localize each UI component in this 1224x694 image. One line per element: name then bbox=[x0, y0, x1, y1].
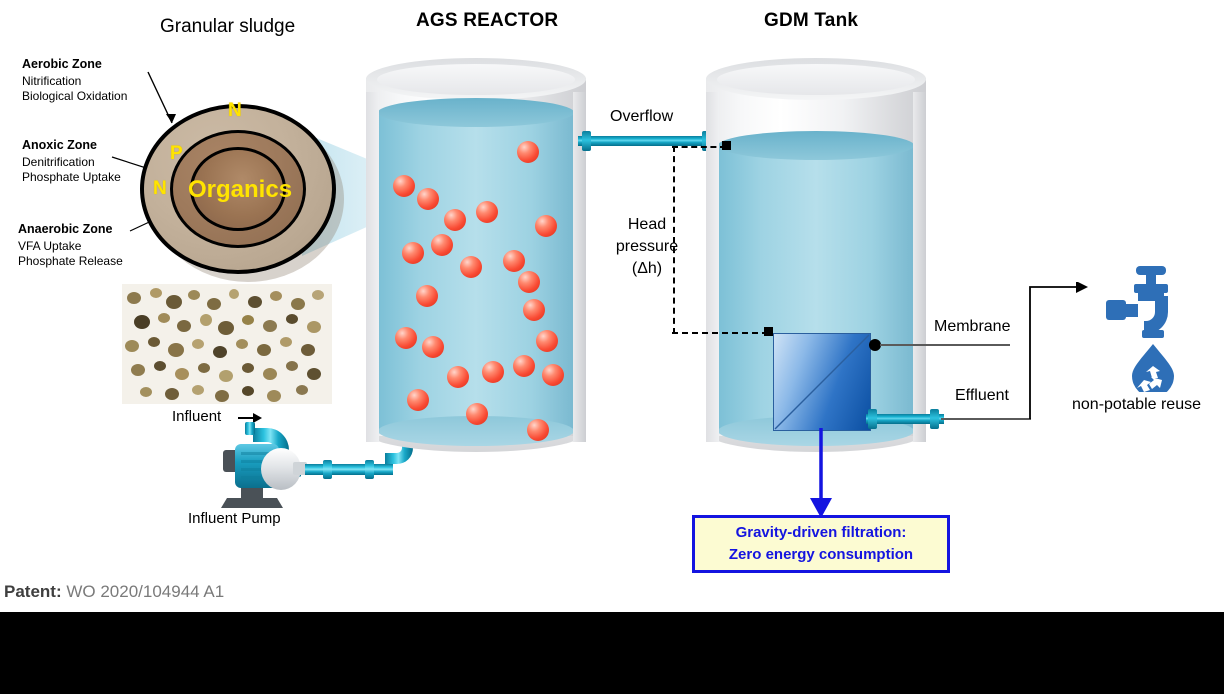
ags-reactor-tank bbox=[366, 50, 586, 450]
callout-box: Gravity-driven filtration: Zero energy c… bbox=[692, 515, 950, 573]
label-non-potable-reuse: non-potable reuse bbox=[1072, 396, 1201, 414]
effluent-pipe-flange-left bbox=[868, 409, 877, 429]
patent-label: Patent: bbox=[4, 582, 62, 601]
ags-water bbox=[378, 112, 574, 432]
label-membrane: Membrane bbox=[931, 318, 1013, 336]
title-ags-reactor: AGS REACTOR bbox=[416, 10, 558, 32]
membrane-leader-line bbox=[880, 344, 1010, 346]
membrane-diagonal-line bbox=[773, 333, 871, 431]
effluent-pipe-flange-right bbox=[930, 409, 939, 429]
patent-value: WO 2020/104944 A1 bbox=[66, 582, 224, 601]
label-head-pressure-line1: Head bbox=[617, 216, 677, 234]
granule-label-mid-n: N bbox=[153, 178, 167, 200]
callout-line-2: Zero energy consumption bbox=[729, 544, 913, 566]
faucet-reuse-icon bbox=[1098, 262, 1208, 392]
screenshot-root: Granular sludge AGS REACTOR GDM Tank Aer… bbox=[0, 0, 1224, 694]
overflow-pipe-flange-left bbox=[582, 131, 591, 151]
head-pressure-dash-bottom bbox=[672, 332, 768, 334]
granule-label-outer-n: N bbox=[228, 100, 242, 122]
callout-line-1: Gravity-driven filtration: bbox=[736, 522, 907, 544]
label-head-pressure-line2: pressure bbox=[602, 238, 692, 256]
label-overflow: Overflow bbox=[610, 108, 673, 126]
label-influent-pump: Influent Pump bbox=[188, 510, 281, 527]
granule-label-mid-p: P bbox=[170, 143, 183, 165]
head-pressure-dash-top bbox=[672, 146, 726, 148]
patent-footer: Patent: WO 2020/104944 A1 bbox=[4, 582, 224, 602]
label-effluent: Effluent bbox=[952, 387, 1012, 405]
label-head-pressure-line3: (Δh) bbox=[617, 260, 677, 278]
title-gdm-tank: GDM Tank bbox=[764, 10, 858, 32]
granule-label-core-organics: Organics bbox=[188, 176, 292, 204]
granular-sludge-micrograph bbox=[122, 284, 332, 404]
diagram-canvas: Granular sludge AGS REACTOR GDM Tank Aer… bbox=[0, 0, 1224, 612]
callout-down-arrow bbox=[805, 428, 841, 520]
